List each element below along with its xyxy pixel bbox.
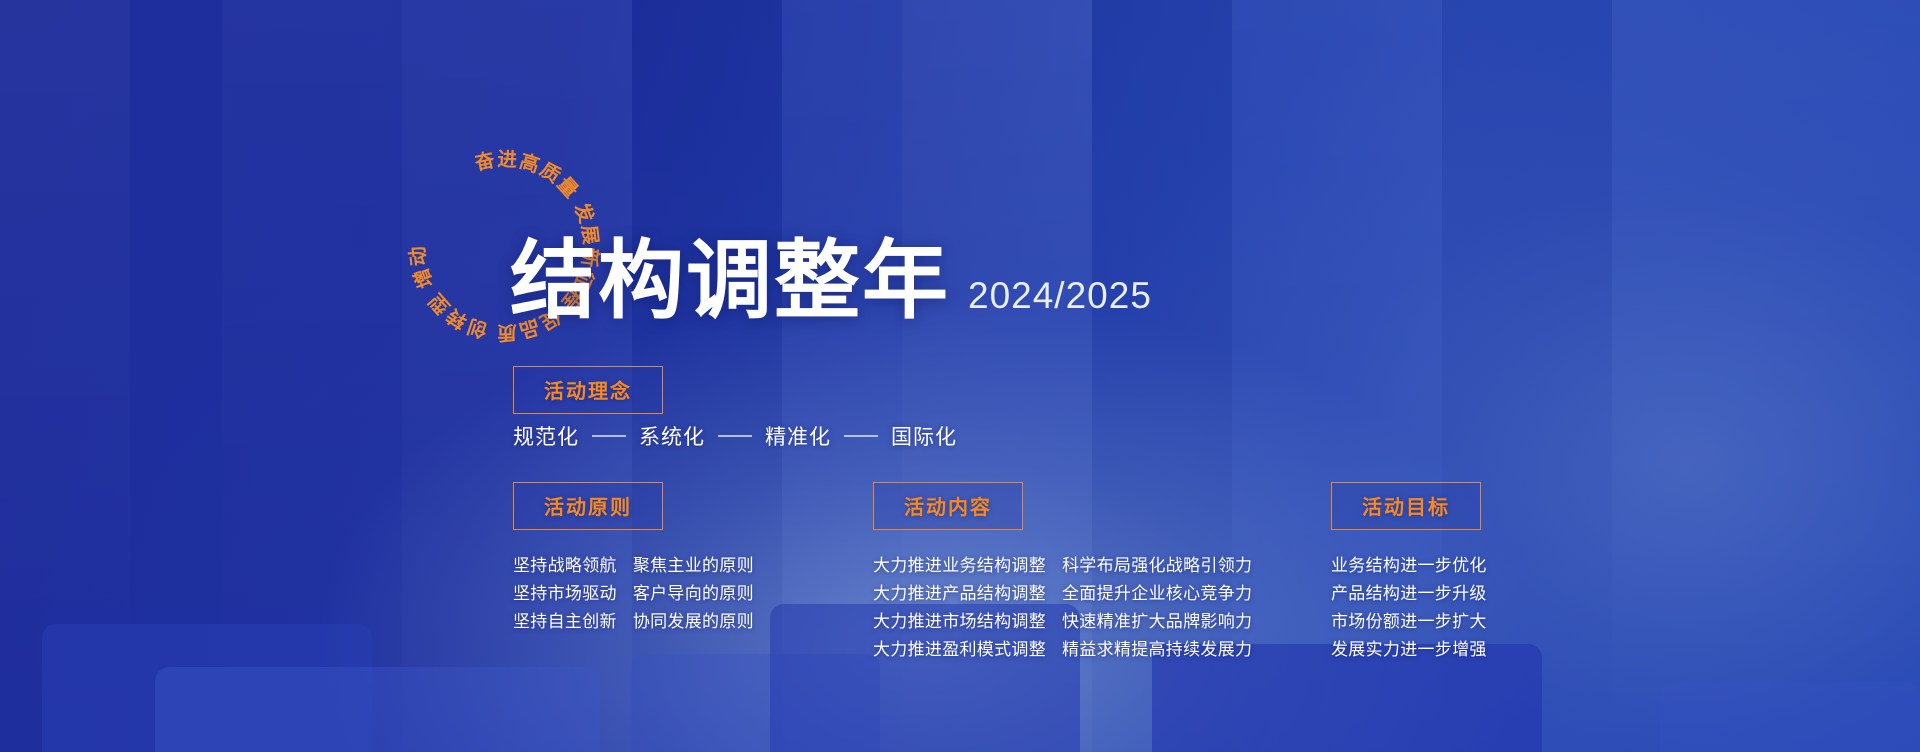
row-left: 坚持市场驱动 [513, 580, 617, 608]
list-item: 坚持战略领航 聚焦主业的原则 [513, 552, 754, 580]
column-activity-content: 活动内容 大力推进业务结构调整 科学布局强化战略引领力 大力推进产品结构调整 全… [873, 482, 1252, 664]
badge-activity-principles[interactable]: 活动原则 [513, 482, 663, 530]
philosophy-separator-icon [718, 435, 752, 437]
list-item: 大力推进产品结构调整 全面提升企业核心竞争力 [873, 580, 1252, 608]
list-item: 大力推进盈利模式调整 精益求精提高持续发展力 [873, 636, 1252, 664]
badge-activity-philosophy[interactable]: 活动理念 [513, 366, 663, 414]
badge-activity-content[interactable]: 活动内容 [873, 482, 1023, 530]
row-left: 大力推进业务结构调整 [873, 552, 1046, 580]
row-left: 发展实力进一步增强 [1331, 636, 1487, 664]
promo-banner: 奋进高质量 发展新征程 促品质 创转型 增动能 结构调整年 2024/2025 … [0, 0, 1920, 752]
row-right: 聚焦主业的原则 [633, 552, 754, 580]
row-left: 坚持自主创新 [513, 608, 617, 636]
badge-activity-goals[interactable]: 活动目标 [1331, 482, 1481, 530]
philosophy-item-1: 系统化 [639, 421, 705, 451]
row-right: 客户导向的原则 [633, 580, 754, 608]
philosophy-items: 规范化 系统化 精准化 国际化 [513, 421, 957, 451]
row-right: 协同发展的原则 [633, 608, 754, 636]
row-right: 科学布局强化战略引领力 [1062, 552, 1252, 580]
list-item: 坚持自主创新 协同发展的原则 [513, 608, 754, 636]
philosophy-separator-icon [592, 435, 626, 437]
row-right: 快速精准扩大品牌影响力 [1062, 608, 1252, 636]
philosophy-item-0: 规范化 [513, 421, 579, 451]
list-item: 大力推进业务结构调整 科学布局强化战略引领力 [873, 552, 1252, 580]
philosophy-item-3: 国际化 [891, 421, 957, 451]
block-6 [1660, 682, 1920, 752]
list-item: 坚持市场驱动 客户导向的原则 [513, 580, 754, 608]
philosophy-separator-icon [844, 435, 878, 437]
content-rows: 大力推进业务结构调整 科学布局强化战略引领力 大力推进产品结构调整 全面提升企业… [873, 552, 1252, 664]
list-item: 市场份额进一步扩大 [1331, 608, 1487, 636]
title-years: 2024/2025 [968, 277, 1152, 314]
goals-rows: 业务结构进一步优化 产品结构进一步升级 市场份额进一步扩大 发展实力进一步增强 [1331, 552, 1487, 664]
row-left: 大力推进产品结构调整 [873, 580, 1046, 608]
principles-rows: 坚持战略领航 聚焦主业的原则 坚持市场驱动 客户导向的原则 坚持自主创新 协同发… [513, 552, 754, 636]
list-item: 大力推进市场结构调整 快速精准扩大品牌影响力 [873, 608, 1252, 636]
row-left: 坚持战略领航 [513, 552, 617, 580]
list-item: 发展实力进一步增强 [1331, 636, 1487, 664]
row-left: 业务结构进一步优化 [1331, 552, 1487, 580]
row-left: 大力推进市场结构调整 [873, 608, 1046, 636]
title-block: 结构调整年 2024/2025 [510, 238, 1152, 324]
page-title: 结构调整年 [510, 238, 950, 324]
column-activity-goals: 活动目标 业务结构进一步优化 产品结构进一步升级 市场份额进一步扩大 发展实力进… [1331, 482, 1487, 664]
row-right: 全面提升企业核心竞争力 [1062, 580, 1252, 608]
row-left: 市场份额进一步扩大 [1331, 608, 1487, 636]
column-activity-principles: 活动原则 坚持战略领航 聚焦主业的原则 坚持市场驱动 客户导向的原则 坚持自主创… [513, 482, 754, 636]
list-item: 业务结构进一步优化 [1331, 552, 1487, 580]
philosophy-item-2: 精准化 [765, 421, 831, 451]
block-2 [155, 667, 600, 752]
list-item: 产品结构进一步升级 [1331, 580, 1487, 608]
philosophy-section: 活动理念 [513, 366, 663, 414]
row-left: 大力推进盈利模式调整 [873, 636, 1046, 664]
row-left: 产品结构进一步升级 [1331, 580, 1487, 608]
row-right: 精益求精提高持续发展力 [1062, 636, 1252, 664]
